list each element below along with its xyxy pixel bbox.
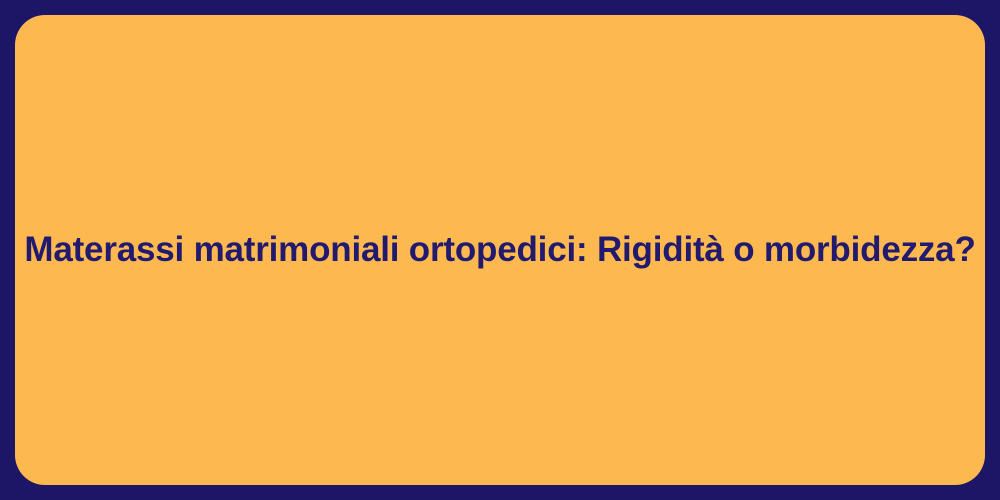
hero-card: Materassi matrimoniali ortopedici: Rigid… — [15, 15, 985, 485]
page-title: Materassi matrimoniali ortopedici: Rigid… — [24, 228, 975, 272]
page-frame: Materassi matrimoniali ortopedici: Rigid… — [0, 0, 1000, 500]
